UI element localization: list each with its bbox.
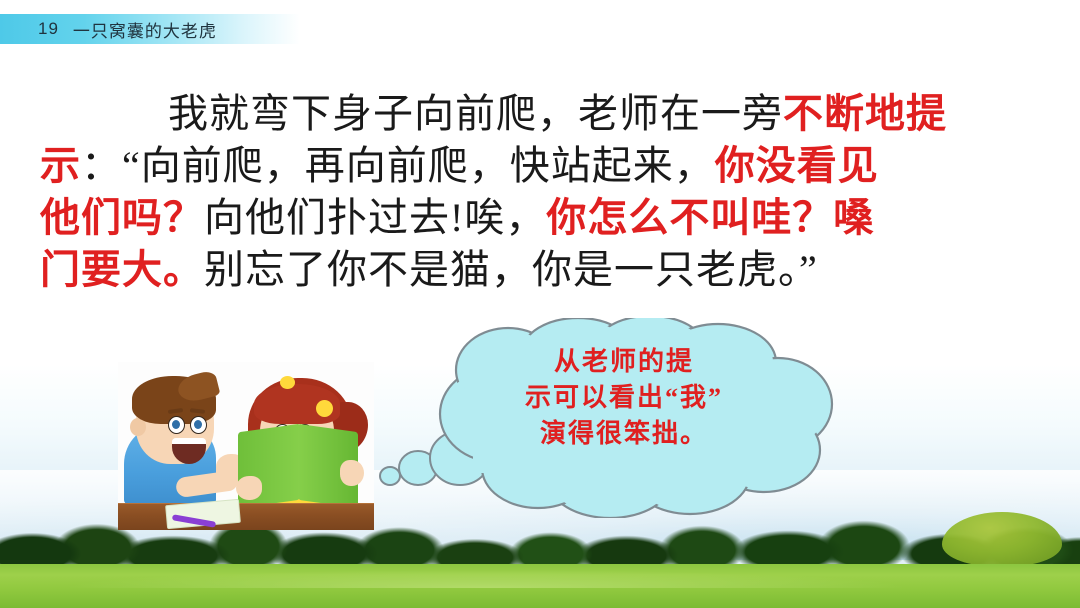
slide-canvas: 19 一只窝囊的大老虎 我就弯下身子向前爬，老师在一旁不断地提 示：“向前爬，再… [0, 0, 1080, 608]
thought-bubble: 从老师的提 示可以看出“我” 演得很笨拙。 [378, 318, 848, 518]
passage-line-3: 他们吗？向他们扑过去!唉，你怎么不叫哇？嗓 [40, 192, 1040, 244]
girl-hand-right [340, 460, 364, 486]
passage-segment: 向他们扑过去!唉， [204, 195, 546, 240]
header: 19 一只窝囊的大老虎 [38, 16, 217, 42]
boy-pupil-right [194, 420, 202, 429]
background-bush [942, 512, 1062, 566]
passage-segment: 我就弯下身子向前爬，老师在一旁 [168, 91, 783, 136]
passage-segment: ：“向前爬，再向前爬，快站起来， [81, 143, 715, 188]
background-grass-field [0, 564, 1080, 608]
children-illustration [118, 362, 374, 530]
thought-line-3: 演得很笨拙。 [474, 416, 774, 452]
desk [118, 504, 374, 530]
passage-line-2: 示：“向前爬，再向前爬，快站起来，你没看见 [40, 140, 1040, 192]
page-title: 一只窝囊的大老虎 [73, 17, 217, 42]
girl-hair-tie-top [280, 376, 295, 389]
passage-segment: 别忘了你不是猫，你是一只老虎。” [204, 247, 818, 292]
passage-line-1: 我就弯下身子向前爬，老师在一旁不断地提 [40, 88, 1040, 140]
thought-line-1: 从老师的提 [474, 344, 774, 380]
passage-segment-highlight: 门要大。 [40, 247, 204, 292]
girl-hair-tie-right [316, 400, 333, 417]
passage-segment-highlight: 你怎么不叫哇？嗓 [546, 195, 874, 240]
passage-text: 我就弯下身子向前爬，老师在一旁不断地提 示：“向前爬，再向前爬，快站起来，你没看… [40, 88, 1040, 296]
thought-bubble-text: 从老师的提 示可以看出“我” 演得很笨拙。 [474, 344, 774, 452]
thought-trail-bubble-small [380, 467, 400, 485]
lesson-number: 19 [38, 19, 59, 39]
girl-hand-left [236, 476, 262, 500]
passage-segment-highlight: 示 [40, 143, 81, 188]
passage-segment-highlight: 不断地提 [783, 91, 947, 136]
thought-line-2: 示可以看出“我” [474, 380, 774, 416]
passage-segment-highlight: 他们吗？ [40, 195, 204, 240]
background-grass-highlight [0, 562, 1080, 588]
passage-line-4: 门要大。别忘了你不是猫，你是一只老虎。” [40, 244, 1040, 296]
passage-segment-highlight: 你没看见 [715, 143, 879, 188]
boy-pupil-left [172, 420, 180, 429]
